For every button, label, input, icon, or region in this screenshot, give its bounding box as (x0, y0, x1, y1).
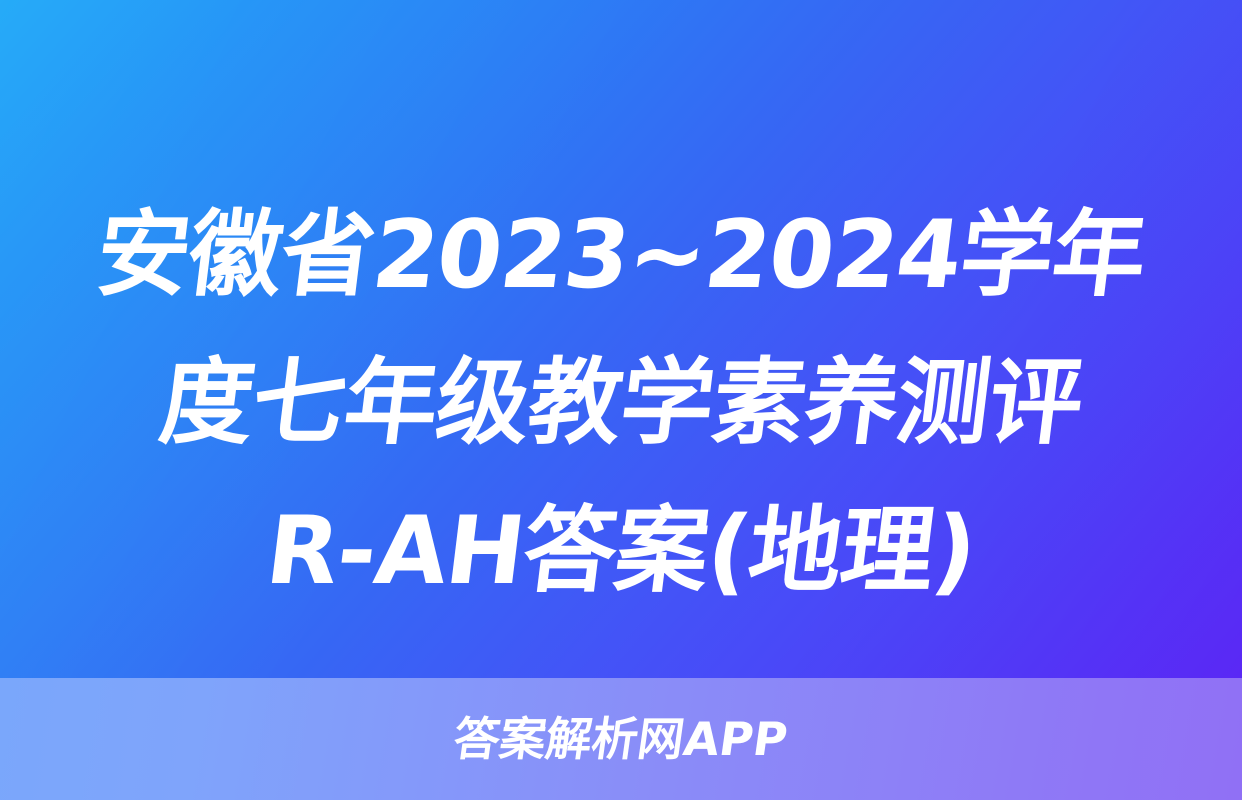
title-line-1: 安徽省2023~2024学年 (82, 182, 1159, 330)
hero-gradient-panel: 安徽省2023~2024学年 度七年级教学素养测评 R-AH答案(地理) (0, 0, 1242, 678)
answer-cover-poster: 安徽省2023~2024学年 度七年级教学素养测评 R-AH答案(地理) 答案解… (0, 0, 1242, 800)
title-line-2: 度七年级教学素养测评 (82, 330, 1159, 478)
page-title: 安徽省2023~2024学年 度七年级教学素养测评 R-AH答案(地理) (86, 182, 1156, 626)
title-line-3: R-AH答案(地理) (82, 478, 1159, 626)
footer-brand-band: 答案解析网APP (0, 678, 1242, 800)
footer-brand-label: 答案解析网APP (451, 716, 790, 762)
